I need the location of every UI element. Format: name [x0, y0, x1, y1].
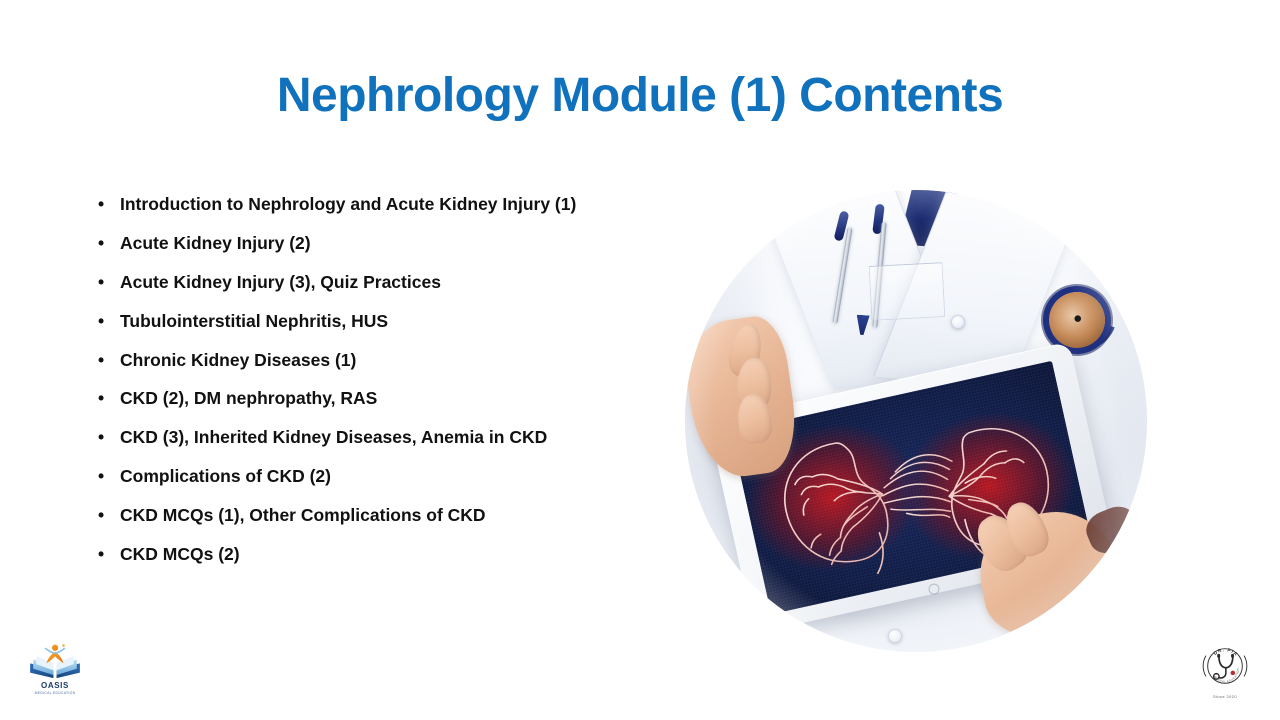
oasis-logo-tagline: MEDICAL EDUCATION [18, 691, 92, 695]
list-item-label: CKD (2), DM nephropathy, RAS [120, 388, 377, 408]
list-item: • Introduction to Nephrology and Acute K… [95, 192, 695, 217]
bullet-icon: • [98, 231, 104, 256]
bullet-icon: • [98, 192, 104, 217]
list-item-label: Introduction to Nephrology and Acute Kid… [120, 194, 576, 214]
stethoscope-circle-icon: DR. PIA MEDICAL EDUCATION [1199, 640, 1251, 692]
dr-pia-established: Since 2020 [1192, 694, 1258, 699]
list-item: • Acute Kidney Injury (2) [95, 231, 695, 256]
slide-canvas: Nephrology Module (1) Contents • Introdu… [0, 0, 1280, 720]
bullet-icon: • [98, 464, 104, 489]
list-item: • CKD (2), DM nephropathy, RAS [95, 386, 695, 411]
stethoscope-badge-icon: DR. PIA MEDICAL EDUCATION [1199, 640, 1251, 692]
svg-text:DR. PIA: DR. PIA [1213, 647, 1239, 657]
doctor-with-tablet-photo [685, 190, 1147, 652]
bullet-icon: • [98, 542, 104, 567]
dr-pia-logo: DR. PIA MEDICAL EDUCATION Since 2020 [1192, 640, 1258, 708]
list-item-label: Acute Kidney Injury (2) [120, 233, 311, 253]
list-item-label: CKD (3), Inherited Kidney Diseases, Anem… [120, 427, 547, 447]
list-item-label: CKD MCQs (1), Other Complications of CKD [120, 505, 486, 525]
bullet-icon: • [98, 503, 104, 528]
list-item: • Acute Kidney Injury (3), Quiz Practice… [95, 270, 695, 295]
list-item: • CKD MCQs (2) [95, 542, 695, 567]
open-book-logo-icon [27, 642, 83, 680]
list-item-label: Acute Kidney Injury (3), Quiz Practices [120, 272, 441, 292]
coat-button [951, 315, 965, 329]
list-item-label: CKD MCQs (2) [120, 544, 240, 564]
photo-inner [685, 190, 1147, 652]
coat-pocket [868, 262, 945, 321]
bullet-icon: • [98, 386, 104, 411]
list-item-label: Chronic Kidney Diseases (1) [120, 350, 356, 370]
bullet-icon: • [98, 425, 104, 450]
list-item: • CKD (3), Inherited Kidney Diseases, An… [95, 425, 695, 450]
bullet-icon: • [98, 270, 104, 295]
list-item-label: Tubulointerstitial Nephritis, HUS [120, 311, 388, 331]
bullet-icon: • [98, 309, 104, 334]
list-item: • CKD MCQs (1), Other Complications of C… [95, 503, 695, 528]
contents-list: • Introduction to Nephrology and Acute K… [95, 192, 695, 581]
dr-pia-name: DR. PIA [1213, 647, 1239, 657]
list-item: • Tubulointerstitial Nephritis, HUS [95, 309, 695, 334]
page-title: Nephrology Module (1) Contents [0, 68, 1280, 123]
list-item: • Complications of CKD (2) [95, 464, 695, 489]
oasis-logo-name: OASIS [18, 681, 92, 690]
open-book-icon [27, 642, 83, 680]
bullet-icon: • [98, 348, 104, 373]
list-item: • Chronic Kidney Diseases (1) [95, 348, 695, 373]
list-item-label: Complications of CKD (2) [120, 466, 331, 486]
oasis-logo: OASIS MEDICAL EDUCATION [18, 642, 92, 704]
